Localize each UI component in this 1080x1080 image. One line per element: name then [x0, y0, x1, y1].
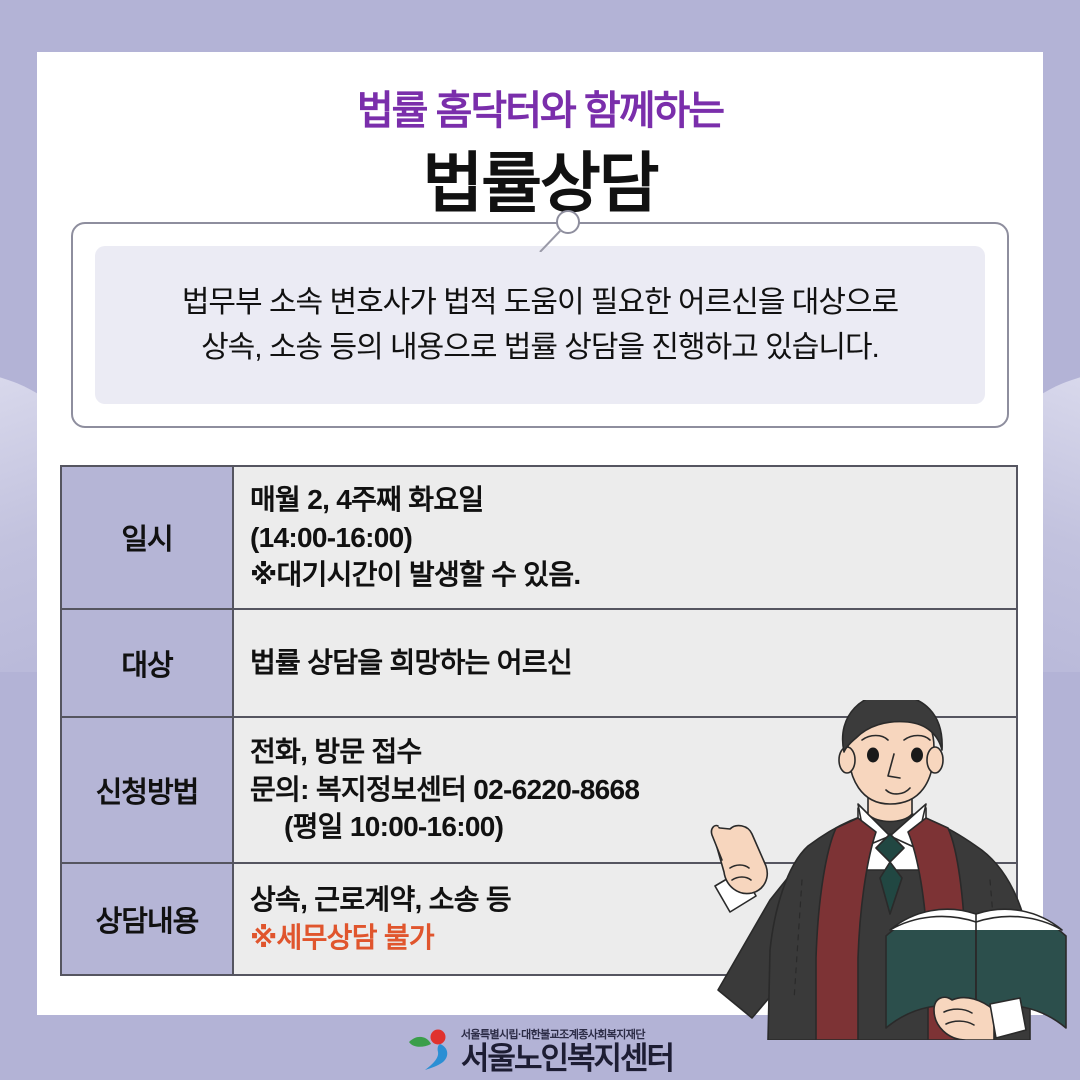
poster-subtitle: 법률 홈닥터와 함께하는: [37, 78, 1043, 136]
value-line: 상속, 근로계약, 소송 등: [250, 881, 1016, 919]
row-value-sincheong: 전화, 방문 접수 문의: 복지정보센터 02-6220-8668 (평일 10…: [233, 717, 1017, 863]
description-line-1: 법무부 소속 변호사가 법적 도움이 필요한 어르신을 대상으로: [182, 286, 898, 319]
value-line: 문의: 복지정보센터 02-6220-8668: [250, 771, 1016, 809]
row-label-sincheong: 신청방법: [61, 717, 233, 863]
description-panel: 법무부 소속 변호사가 법적 도움이 필요한 어르신을 대상으로 상속, 소송 …: [71, 222, 1009, 428]
row-label-daesang: 대상: [61, 609, 233, 717]
organization-logo-mark: [407, 1028, 453, 1072]
value-line: (14:00-16:00): [250, 519, 1016, 557]
value-line: 전화, 방문 접수: [250, 733, 1016, 771]
row-value-sangdam: 상속, 근로계약, 소송 등 ※세무상담 불가: [233, 863, 1017, 975]
row-label-sangdam: 상담내용: [61, 863, 233, 975]
description-inner: 법무부 소속 변호사가 법적 도움이 필요한 어르신을 대상으로 상속, 소송 …: [95, 246, 985, 404]
row-value-daesang: 법률 상담을 희망하는 어르신: [233, 609, 1017, 717]
value-line: (평일 10:00-16:00): [250, 808, 1016, 846]
organization-subtitle: 서울특별시립·대한불교조계종사회복지재단: [461, 1026, 645, 1042]
value-line: 법률 상담을 희망하는 어르신: [250, 644, 1016, 682]
value-line-warning: ※세무상담 불가: [250, 919, 1016, 957]
description-line-2: 상속, 소송 등의 내용으로 법률 상담을 진행하고 있습니다.: [201, 331, 879, 364]
poster-card: 법률 홈닥터와 함께하는 법률상담 법무부 소속 변호사가 법적 도움이 필요한…: [37, 52, 1043, 1015]
footer-logo: 서울특별시립·대한불교조계종사회복지재단 서울노인복지센터: [0, 1026, 1080, 1074]
row-value-ilsi: 매월 2, 4주째 화요일 (14:00-16:00) ※대기시간이 발생할 수…: [233, 466, 1017, 609]
organization-name: 서울노인복지센터: [461, 1043, 673, 1074]
table-row: 신청방법 전화, 방문 접수 문의: 복지정보센터 02-6220-8668 (…: [61, 717, 1017, 863]
poster-title: 법률상담: [37, 130, 1043, 226]
info-table: 일시 매월 2, 4주째 화요일 (14:00-16:00) ※대기시간이 발생…: [60, 465, 1018, 976]
footer-text: 서울특별시립·대한불교조계종사회복지재단 서울노인복지센터: [461, 1026, 673, 1074]
table-row: 대상 법률 상담을 희망하는 어르신: [61, 609, 1017, 717]
table-row: 일시 매월 2, 4주째 화요일 (14:00-16:00) ※대기시간이 발생…: [61, 466, 1017, 609]
value-line: 매월 2, 4주째 화요일: [250, 481, 1016, 519]
row-label-ilsi: 일시: [61, 466, 233, 609]
value-line: ※대기시간이 발생할 수 있음.: [250, 556, 1016, 594]
poster-root: 법률 홈닥터와 함께하는 법률상담 법무부 소속 변호사가 법적 도움이 필요한…: [0, 0, 1080, 1080]
table-row: 상담내용 상속, 근로계약, 소송 등 ※세무상담 불가: [61, 863, 1017, 975]
